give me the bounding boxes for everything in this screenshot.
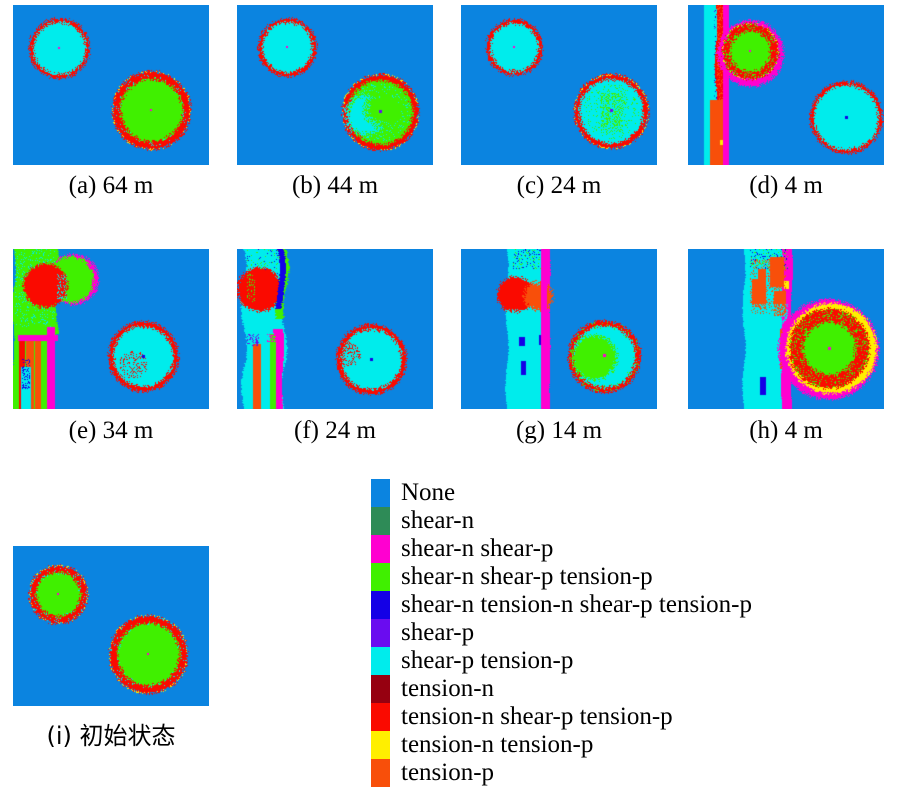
panel-i-canvas <box>13 546 209 706</box>
panel-g-canvas <box>461 249 657 409</box>
caption-panel-d: (d) 4 m <box>688 172 884 200</box>
panel-d-canvas <box>688 5 884 165</box>
legend-label-shear-n-shear-p: shear-n shear-p <box>401 535 553 563</box>
legend-item-shear-n-tension-n-shear-p-tension-p: shear-n tension-n shear-p tension-p <box>371 591 752 619</box>
legend-item-shear-n-shear-p: shear-n shear-p <box>371 535 752 563</box>
legend-label-tension-n-shear-p-tension-p: tension-n shear-p tension-p <box>401 703 673 731</box>
legend-item-tension-n-shear-p-tension-p: tension-n shear-p tension-p <box>371 703 752 731</box>
panel-e-canvas <box>13 249 209 409</box>
legend-swatch-shear-p-tension-p <box>371 647 390 675</box>
legend-label-shear-p-tension-p: shear-p tension-p <box>401 647 573 675</box>
legend-swatch-shear-n-shear-p <box>371 535 390 563</box>
legend-label-shear-n-shear-p-tension-p: shear-n shear-p tension-p <box>401 563 653 591</box>
legend-swatch-tension-n-tension-p <box>371 731 390 759</box>
legend-swatch-tension-p <box>371 759 390 787</box>
panel-c <box>461 5 657 165</box>
panel-i <box>13 546 209 706</box>
legend-item-tension-n: tension-n <box>371 675 752 703</box>
panel-h <box>688 249 884 409</box>
legend-item-none: None <box>371 479 752 507</box>
legend-label-tension-n: tension-n <box>401 675 494 703</box>
panel-h-canvas <box>688 249 884 409</box>
panel-a-canvas <box>13 5 209 165</box>
legend-swatch-shear-n-tension-n-shear-p-tension-p <box>371 591 390 619</box>
panel-g <box>461 249 657 409</box>
legend-item-tension-p: tension-p <box>371 759 752 787</box>
legend-item-shear-n: shear-n <box>371 507 752 535</box>
legend-swatch-shear-p <box>371 619 390 647</box>
legend-swatch-shear-n-shear-p-tension-p <box>371 563 390 591</box>
legend-item-shear-n-shear-p-tension-p: shear-n shear-p tension-p <box>371 563 752 591</box>
panel-f-canvas <box>237 249 433 409</box>
caption-panel-f: (f) 24 m <box>237 417 433 445</box>
legend-label-none: None <box>401 479 455 507</box>
panel-e <box>13 249 209 409</box>
legend-item-tension-n-tension-p: tension-n tension-p <box>371 731 752 759</box>
caption-panel-a: (a) 64 m <box>13 172 209 200</box>
legend-swatch-shear-n <box>371 507 390 535</box>
caption-panel-g: (g) 14 m <box>461 417 657 445</box>
caption-panel-e: (e) 34 m <box>13 417 209 445</box>
panel-f <box>237 249 433 409</box>
caption-panel-b: (b) 44 m <box>237 172 433 200</box>
legend-item-shear-p-tension-p: shear-p tension-p <box>371 647 752 675</box>
legend-swatch-none <box>371 479 390 507</box>
legend-swatch-tension-n-shear-p-tension-p <box>371 703 390 731</box>
caption-panel-i: (i) 初始状态 <box>13 716 209 751</box>
legend: None shear-n shear-n shear-p shear-n she… <box>371 479 752 787</box>
legend-label-tension-p: tension-p <box>401 759 494 787</box>
panel-b <box>237 5 433 165</box>
panel-b-canvas <box>237 5 433 165</box>
panel-c-canvas <box>461 5 657 165</box>
panel-d <box>688 5 884 165</box>
legend-label-shear-n-tension-n-shear-p-tension-p: shear-n tension-n shear-p tension-p <box>401 591 752 619</box>
caption-panel-h: (h) 4 m <box>688 417 884 445</box>
figure-root: (a) 64 m (b) 44 m (c) 24 m (d) 4 m (e) 3… <box>0 0 904 804</box>
legend-swatch-tension-n <box>371 675 390 703</box>
legend-label-shear-p: shear-p <box>401 619 474 647</box>
legend-label-shear-n: shear-n <box>401 507 474 535</box>
caption-panel-c: (c) 24 m <box>461 172 657 200</box>
panel-a <box>13 5 209 165</box>
legend-label-tension-n-tension-p: tension-n tension-p <box>401 731 593 759</box>
legend-item-shear-p: shear-p <box>371 619 752 647</box>
